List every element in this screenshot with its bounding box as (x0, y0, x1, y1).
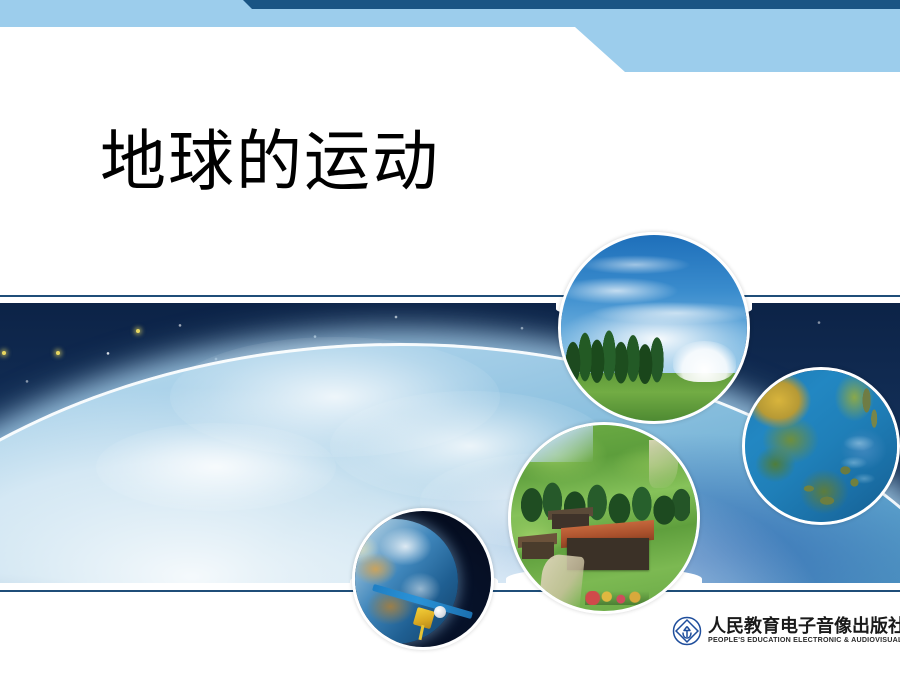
publisher-logo: 人民教育电子音像出版社 PEOPLE'S EDUCATION ELECTRONI… (672, 616, 900, 646)
star-icon (2, 351, 6, 355)
circle-photo-east-asia (742, 367, 900, 525)
light-blue-header-band (0, 0, 900, 73)
island-chain (745, 370, 897, 522)
farm-track (538, 553, 585, 613)
circle-photo-satellite-orbit (352, 508, 494, 650)
publisher-name-en: PEOPLE'S EDUCATION ELECTRONIC & AUDIOVIS… (708, 636, 900, 645)
presentation-slide: 地球的运动 (0, 0, 900, 675)
star-icon (56, 351, 60, 355)
shed-wall (522, 542, 554, 559)
flower-garden (585, 591, 648, 606)
star-icon (136, 329, 140, 333)
publisher-name-cn: 人民教育电子音像出版社 (708, 617, 900, 636)
tree-line (565, 313, 665, 384)
cumulus-cloud (673, 341, 736, 382)
circle-photo-farmhouse (508, 422, 700, 614)
snowy-mountain (508, 422, 593, 462)
divider-above-banner (0, 295, 900, 297)
publisher-name-block: 人民教育电子音像出版社 PEOPLE'S EDUCATION ELECTRONI… (708, 617, 900, 645)
circle-photo-sky-field (558, 232, 750, 424)
peoples-education-press-diamond-logo (672, 616, 702, 646)
page-title: 地球的运动 (100, 126, 440, 199)
